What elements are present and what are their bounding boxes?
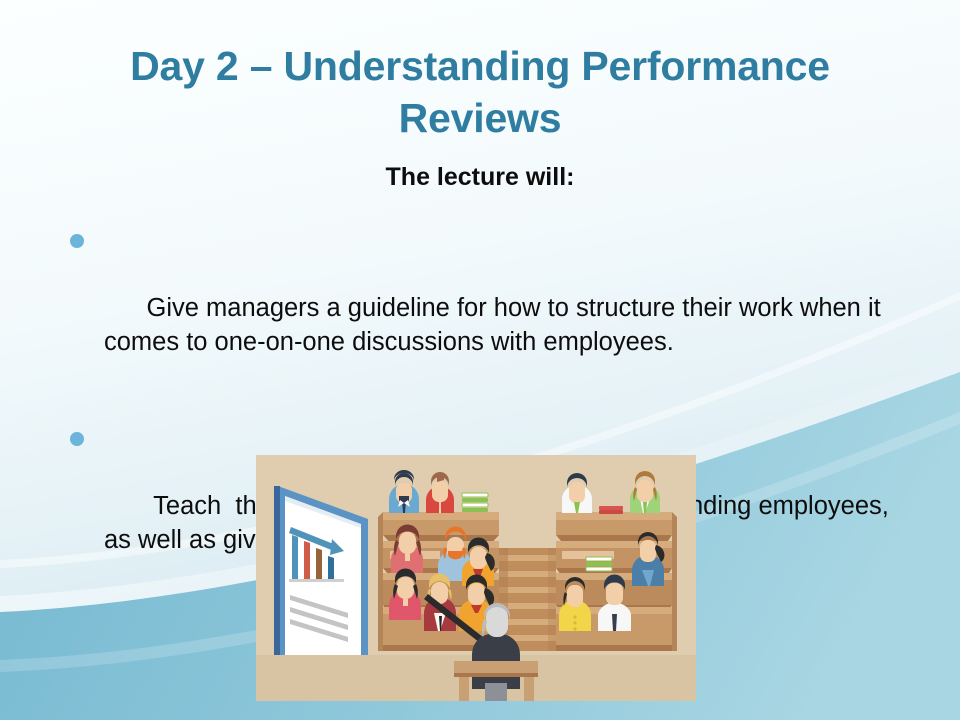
projection-screen (274, 486, 368, 683)
slide-title: Day 2 – Understanding Performance Review… (130, 40, 830, 145)
book-stack-left (462, 493, 488, 512)
list-item-text: Give managers a guideline for how to str… (104, 294, 888, 356)
presentation-slide: Day 2 – Understanding Performance Review… (0, 0, 960, 720)
bullet-dot-icon (70, 432, 84, 446)
slide-subtitle: The lecture will: (180, 163, 780, 192)
lecture-hall-illustration (256, 455, 696, 701)
bullet-dot-icon (70, 234, 84, 248)
book-stack-right-top (599, 506, 623, 514)
book-stack-right-mid (586, 557, 612, 571)
list-item: Give managers a guideline for how to str… (62, 222, 892, 393)
